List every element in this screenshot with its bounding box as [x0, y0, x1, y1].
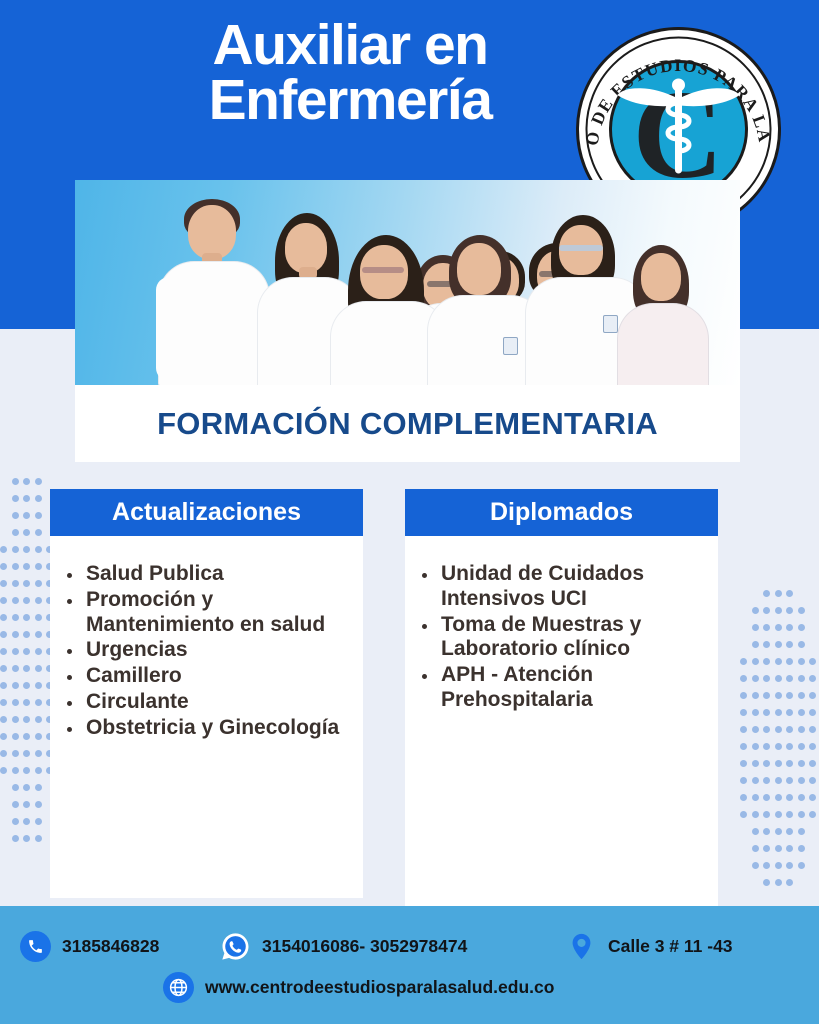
decorative-dot [775, 879, 782, 886]
decorative-dot [35, 716, 42, 723]
decorative-dot [12, 529, 19, 536]
decorative-dot [0, 648, 7, 655]
decorative-dot [23, 716, 30, 723]
decorative-dot [23, 495, 30, 502]
decorative-dot [35, 801, 42, 808]
decorative-dot [786, 828, 793, 835]
decorative-dot [23, 529, 30, 536]
decorative-dot [752, 777, 759, 784]
location-pin-icon [566, 931, 597, 962]
decorative-dot [763, 675, 770, 682]
decorative-dot [0, 597, 7, 604]
decorative-dot [763, 607, 770, 614]
decorative-dot [752, 641, 759, 648]
list-item: Unidad de Cuidados Intensivos UCI [439, 562, 706, 612]
diplomados-list: Unidad de Cuidados Intensivos UCIToma de… [405, 536, 718, 724]
actualizaciones-list: Salud PublicaPromoción y Mantenimiento e… [50, 536, 363, 751]
decorative-dot [775, 607, 782, 614]
formacion-banner-text: FORMACIÓN COMPLEMENTARIA [157, 406, 658, 442]
decorative-dot [763, 828, 770, 835]
decorative-dot [798, 828, 805, 835]
decorative-dot [786, 777, 793, 784]
decorative-dot [740, 743, 747, 750]
decorative-dot [752, 828, 759, 835]
decorative-dot [763, 845, 770, 852]
decorative-dot [763, 794, 770, 801]
decorative-dot [763, 777, 770, 784]
decorative-dot [0, 699, 7, 706]
decorative-dot [23, 750, 30, 757]
decorative-dot [786, 845, 793, 852]
decorative-dot [798, 607, 805, 614]
decorative-dot [12, 767, 19, 774]
decorative-dot [35, 665, 42, 672]
footer-website-url: www.centrodeestudiosparalasalud.edu.co [205, 977, 554, 998]
decorative-dot [23, 580, 30, 587]
list-item: Camillero [84, 664, 351, 689]
decorative-dot [23, 733, 30, 740]
decorative-dot [752, 760, 759, 767]
footer-whatsapp[interactable]: 3154016086- 3052978474 [220, 931, 467, 962]
decorative-dot [0, 750, 7, 757]
globe-icon [163, 972, 194, 1003]
decorative-dot [786, 607, 793, 614]
decorative-dot [752, 658, 759, 665]
decorative-dot [752, 607, 759, 614]
decorative-dot [0, 767, 7, 774]
decorative-dot [752, 692, 759, 699]
decorative-dot [0, 716, 7, 723]
decorative-dot [775, 590, 782, 597]
decorative-dot [0, 614, 7, 621]
decorative-dot [23, 546, 30, 553]
decorative-dot [23, 631, 30, 638]
decorative-dot [35, 546, 42, 553]
list-item: Toma de Muestras y Laboratorio clínico [439, 613, 706, 663]
decorative-dot [775, 777, 782, 784]
decorative-dot [786, 641, 793, 648]
decorative-dot [740, 777, 747, 784]
title-line-1: Auxiliar en [140, 18, 560, 73]
decorative-dot [12, 580, 19, 587]
list-item: Promoción y Mantenimiento en salud [84, 588, 351, 638]
decorative-dot [752, 743, 759, 750]
decorative-dot [786, 675, 793, 682]
decorative-dot [0, 733, 7, 740]
decorative-dot [809, 675, 816, 682]
footer-phone[interactable]: 3185846828 [20, 931, 159, 962]
decorative-dot [0, 546, 7, 553]
decorative-dot [809, 777, 816, 784]
decorative-dot [775, 658, 782, 665]
footer-address[interactable]: Calle 3 # 11 -43 [566, 931, 733, 962]
decorative-dot [35, 835, 42, 842]
decorative-dot [23, 767, 30, 774]
decorative-dot [35, 614, 42, 621]
decorative-dot [0, 563, 7, 570]
decorative-dot [763, 879, 770, 886]
decorative-dot [775, 862, 782, 869]
title-line-2: Enfermería [140, 73, 560, 128]
decorative-dot [35, 750, 42, 757]
decorative-dot [12, 478, 19, 485]
decorative-dot [763, 641, 770, 648]
decorative-dot [23, 665, 30, 672]
decorative-dot [0, 682, 7, 689]
decorative-dots-right [740, 590, 819, 890]
decorative-dot [798, 692, 805, 699]
decorative-dot [798, 811, 805, 818]
decorative-dot [35, 767, 42, 774]
decorative-dot [786, 624, 793, 631]
decorative-dot [12, 750, 19, 757]
decorative-dot [763, 709, 770, 716]
decorative-dot [763, 811, 770, 818]
column-header-label: Diplomados [490, 498, 633, 527]
decorative-dots-left [0, 478, 50, 808]
contact-footer: 3185846828 3154016086- 3052978474 Calle … [0, 906, 819, 1024]
decorative-dot [786, 658, 793, 665]
decorative-dot [786, 709, 793, 716]
decorative-dot [12, 716, 19, 723]
decorative-dot [798, 641, 805, 648]
decorative-dot [35, 682, 42, 689]
decorative-dot [763, 726, 770, 733]
decorative-dot [775, 641, 782, 648]
decorative-dot [35, 648, 42, 655]
decorative-dot [763, 692, 770, 699]
decorative-dot [775, 828, 782, 835]
list-item: Obstetricia y Ginecología [84, 716, 351, 741]
decorative-dot [12, 648, 19, 655]
decorative-dot [0, 665, 7, 672]
decorative-dot [763, 658, 770, 665]
decorative-dot [23, 597, 30, 604]
decorative-dot [752, 709, 759, 716]
page-title: Auxiliar en Enfermería [140, 18, 560, 129]
decorative-dot [809, 709, 816, 716]
decorative-dot [35, 818, 42, 825]
column-body-diplomados: Unidad de Cuidados Intensivos UCIToma de… [405, 536, 718, 928]
decorative-dot [786, 794, 793, 801]
decorative-dot [12, 563, 19, 570]
decorative-dot [12, 784, 19, 791]
decorative-dot [798, 675, 805, 682]
decorative-dot [740, 658, 747, 665]
decorative-dot [23, 614, 30, 621]
decorative-dot [740, 692, 747, 699]
decorative-dot [775, 675, 782, 682]
list-item: Circulante [84, 690, 351, 715]
decorative-dot [12, 682, 19, 689]
decorative-dot [23, 801, 30, 808]
flyer-canvas: Auxiliar en Enfermería CENTRO DE ESTUDIO… [0, 0, 819, 1024]
decorative-dot [775, 760, 782, 767]
decorative-dot [740, 709, 747, 716]
decorative-dot [12, 512, 19, 519]
decorative-dot [786, 879, 793, 886]
decorative-dot [763, 743, 770, 750]
decorative-dot [35, 495, 42, 502]
decorative-dot [35, 563, 42, 570]
column-header-diplomados: Diplomados [405, 489, 718, 536]
decorative-dot [763, 624, 770, 631]
decorative-dot [35, 529, 42, 536]
decorative-dot [35, 580, 42, 587]
decorative-dot [809, 794, 816, 801]
decorative-dot [752, 794, 759, 801]
decorative-dot [775, 692, 782, 699]
decorative-dot [809, 692, 816, 699]
decorative-dot [12, 699, 19, 706]
decorative-dot [786, 862, 793, 869]
decorative-dot [12, 631, 19, 638]
decorative-dot [35, 512, 42, 519]
decorative-dot [740, 811, 747, 818]
decorative-dot [23, 682, 30, 689]
decorative-dot [809, 743, 816, 750]
decorative-dot [798, 794, 805, 801]
list-item: Salud Publica [84, 562, 351, 587]
column-body-actualizaciones: Salud PublicaPromoción y Mantenimiento e… [50, 536, 363, 898]
decorative-dot [798, 743, 805, 750]
decorative-dot [740, 794, 747, 801]
decorative-dot [23, 512, 30, 519]
decorative-dot [798, 862, 805, 869]
decorative-dot [23, 699, 30, 706]
column-header-actualizaciones: Actualizaciones [50, 489, 363, 536]
footer-address-text: Calle 3 # 11 -43 [608, 936, 733, 957]
decorative-dot [798, 845, 805, 852]
decorative-dot [35, 699, 42, 706]
list-item: Urgencias [84, 638, 351, 663]
footer-website[interactable]: www.centrodeestudiosparalasalud.edu.co [163, 972, 554, 1003]
decorative-dot [763, 590, 770, 597]
decorative-dot [23, 563, 30, 570]
decorative-dot [775, 743, 782, 750]
decorative-dot [35, 597, 42, 604]
decorative-dot [12, 665, 19, 672]
decorative-dot [12, 597, 19, 604]
decorative-dot [12, 733, 19, 740]
decorative-dot [752, 675, 759, 682]
decorative-dot [775, 794, 782, 801]
decorative-dot [740, 726, 747, 733]
decorative-dot [12, 835, 19, 842]
decorative-dot [809, 726, 816, 733]
decorative-dot [798, 709, 805, 716]
decorative-dot [809, 658, 816, 665]
decorative-dot [798, 624, 805, 631]
decorative-dot [809, 760, 816, 767]
decorative-dot [12, 546, 19, 553]
decorative-dot [23, 818, 30, 825]
decorative-dot [740, 675, 747, 682]
decorative-dot [775, 624, 782, 631]
decorative-dot [786, 726, 793, 733]
decorative-dot [763, 760, 770, 767]
decorative-dot [798, 777, 805, 784]
students-photo [75, 180, 740, 385]
decorative-dot [12, 495, 19, 502]
column-diplomados: Diplomados Unidad de Cuidados Intensivos… [405, 489, 718, 928]
decorative-dot [752, 624, 759, 631]
decorative-dot [775, 811, 782, 818]
decorative-dot [0, 631, 7, 638]
decorative-dot [35, 733, 42, 740]
list-item: APH - Atención Prehospitalaria [439, 663, 706, 713]
decorative-dot [12, 801, 19, 808]
decorative-dot [775, 845, 782, 852]
decorative-dot [12, 614, 19, 621]
decorative-dot [798, 760, 805, 767]
decorative-dot [786, 743, 793, 750]
column-header-label: Actualizaciones [112, 498, 301, 527]
decorative-dot [786, 590, 793, 597]
whatsapp-icon [220, 931, 251, 962]
decorative-dot [35, 784, 42, 791]
decorative-dot [23, 478, 30, 485]
decorative-dot [775, 709, 782, 716]
decorative-dot [752, 811, 759, 818]
footer-phone-number: 3185846828 [62, 936, 159, 957]
decorative-dot [752, 726, 759, 733]
decorative-dot [786, 811, 793, 818]
decorative-dot [740, 760, 747, 767]
decorative-dot [23, 648, 30, 655]
decorative-dot [763, 862, 770, 869]
decorative-dot [798, 658, 805, 665]
decorative-dot [35, 478, 42, 485]
decorative-dot [798, 726, 805, 733]
formacion-banner: FORMACIÓN COMPLEMENTARIA [75, 385, 740, 462]
decorative-dot [786, 692, 793, 699]
phone-icon [20, 931, 51, 962]
footer-whatsapp-number: 3154016086- 3052978474 [262, 936, 467, 957]
decorative-dot [35, 631, 42, 638]
decorative-dot [752, 845, 759, 852]
decorative-dot [0, 580, 7, 587]
decorative-dot [12, 818, 19, 825]
decorative-dot [752, 862, 759, 869]
decorative-dot [23, 835, 30, 842]
decorative-dot [775, 726, 782, 733]
column-actualizaciones: Actualizaciones Salud PublicaPromoción y… [50, 489, 363, 898]
decorative-dot [786, 760, 793, 767]
decorative-dot [23, 784, 30, 791]
decorative-dot [809, 811, 816, 818]
